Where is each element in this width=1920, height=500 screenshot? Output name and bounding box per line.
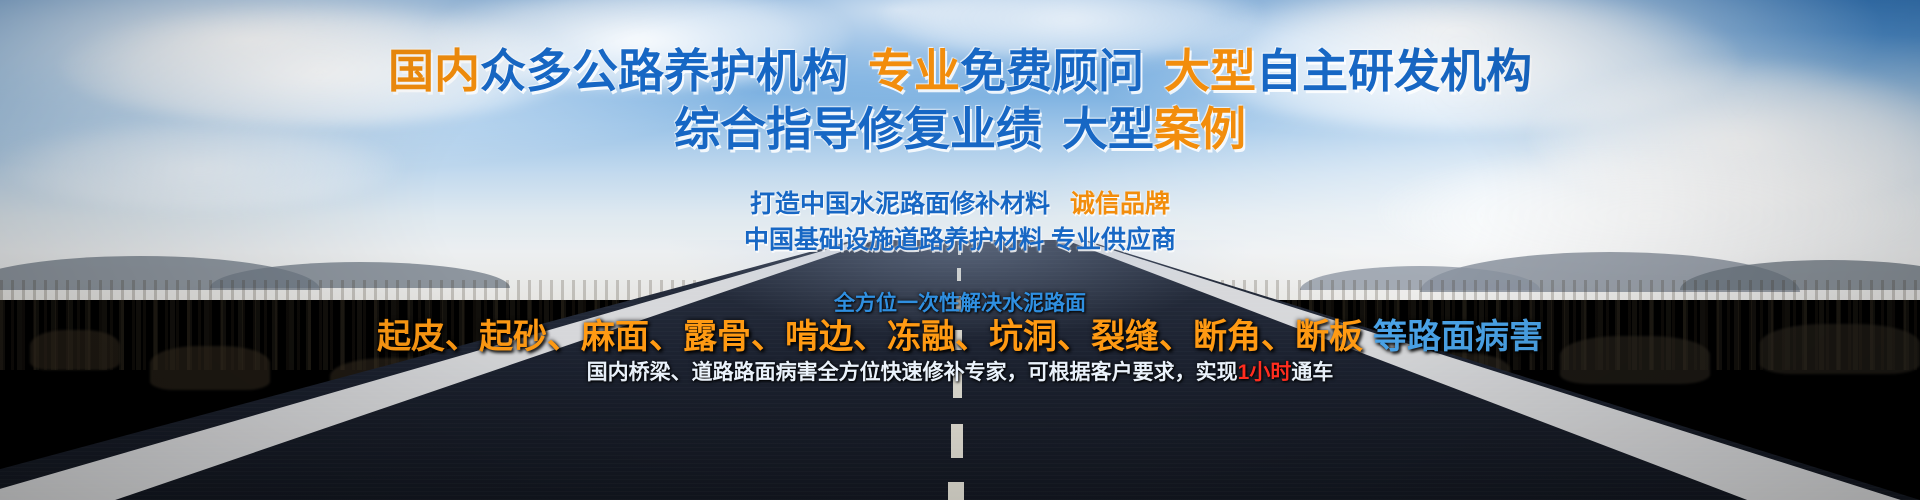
headline-l1-part-4: 免费顾问 — [960, 45, 1144, 97]
headline-line-1: 国内众多公路养护机构专业免费顾问大型自主研发机构 — [0, 48, 1920, 94]
headline-l2-part-3: 案例 — [1154, 103, 1246, 155]
headline-l2-part-1: 综合指导修复业绩 — [674, 103, 1042, 155]
headline-l2-part-2: 大型 — [1062, 103, 1154, 155]
subheadline-l1-part-1: 打造中国水泥路面修补材料 — [750, 190, 1050, 218]
bottom-closing-line: 国内桥梁、道路路面病害全方位快速修补专家，可根据客户要求，实现1小时通车 — [0, 362, 1920, 383]
promo-banner: 国内众多公路养护机构专业免费顾问大型自主研发机构 综合指导修复业绩大型案例 打造… — [0, 0, 1920, 500]
headline-l1-part-3: 专业 — [868, 45, 960, 97]
headline-l1-part-5: 大型 — [1164, 45, 1256, 97]
subheadline-line-1: 打造中国水泥路面修补材料诚信品牌 — [0, 192, 1920, 217]
closing-part-1: 国内桥梁、道路路面病害全方位快速修补专家，可根据客户要求，实现 — [587, 361, 1238, 384]
headline-l1-part-2: 众多公路养护机构 — [480, 45, 848, 97]
headline-line-2: 综合指导修复业绩大型案例 — [0, 106, 1920, 152]
headline-l1-part-1: 国内 — [388, 45, 480, 97]
headline-l1-part-6: 自主研发机构 — [1256, 45, 1532, 97]
subheadline-line-2: 中国基础设施道路养护材料 专业供应商 — [0, 228, 1920, 253]
bottom-tagline: 全方位一次性解决水泥路面 — [0, 293, 1920, 314]
defect-list-suffix: 等路面病害 — [1373, 318, 1543, 356]
bottom-defect-list: 起皮、起砂、麻面、露骨、啃边、冻融、坑洞、裂缝、断角、断板等路面病害 — [0, 320, 1920, 354]
closing-part-3: 通车 — [1291, 361, 1333, 384]
defect-list-items: 起皮、起砂、麻面、露骨、啃边、冻融、坑洞、裂缝、断角、断板 — [377, 318, 1363, 356]
subheadline-l1-part-2: 诚信品牌 — [1070, 190, 1170, 218]
closing-highlight-time: 1小时 — [1238, 361, 1292, 384]
